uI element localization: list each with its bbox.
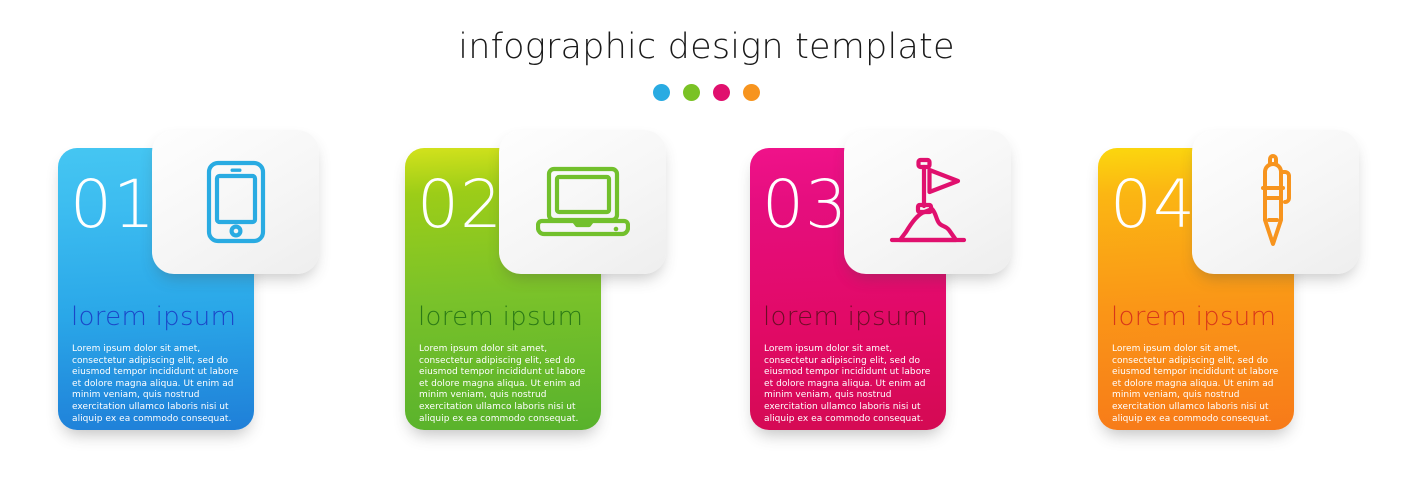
card-list: 01 lorem ipsum Lorem ipsum dolor sit ame… xyxy=(0,0,1413,500)
card-heading-03: lorem ipsum xyxy=(763,304,928,330)
icon-tile-04[interactable] xyxy=(1192,130,1359,274)
smartphone-icon xyxy=(199,159,273,245)
card-heading-04: lorem ipsum xyxy=(1111,304,1276,330)
laptop-icon xyxy=(536,163,630,241)
card-number-02: 02 xyxy=(417,172,503,238)
card-heading-01: lorem ipsum xyxy=(71,304,236,330)
card-number-01: 01 xyxy=(70,172,156,238)
icon-tile-02[interactable] xyxy=(499,130,666,274)
card-body-02: Lorem ipsum dolor sit amet, consectetur … xyxy=(419,344,587,425)
card-body-03: Lorem ipsum dolor sit amet, consectetur … xyxy=(764,344,932,425)
mountain-flag-icon xyxy=(882,156,974,248)
pen-icon xyxy=(1245,152,1307,252)
card-02[interactable]: 02 lorem ipsum Lorem ipsum dolor sit ame… xyxy=(405,130,665,450)
icon-tile-03[interactable] xyxy=(844,130,1011,274)
card-number-04: 04 xyxy=(1110,172,1196,238)
icon-tile-01[interactable] xyxy=(152,130,319,274)
card-number-03: 03 xyxy=(762,172,848,238)
card-heading-02: lorem ipsum xyxy=(418,304,583,330)
card-04[interactable]: 04 lorem ipsum Lorem ipsum dolor sit ame… xyxy=(1098,130,1358,450)
card-body-01: Lorem ipsum dolor sit amet, consectetur … xyxy=(72,344,240,425)
card-03[interactable]: 03 lorem ipsum Lorem ipsum dolor sit ame… xyxy=(750,130,1010,450)
card-01[interactable]: 01 lorem ipsum Lorem ipsum dolor sit ame… xyxy=(58,130,318,450)
card-body-04: Lorem ipsum dolor sit amet, consectetur … xyxy=(1112,344,1280,425)
